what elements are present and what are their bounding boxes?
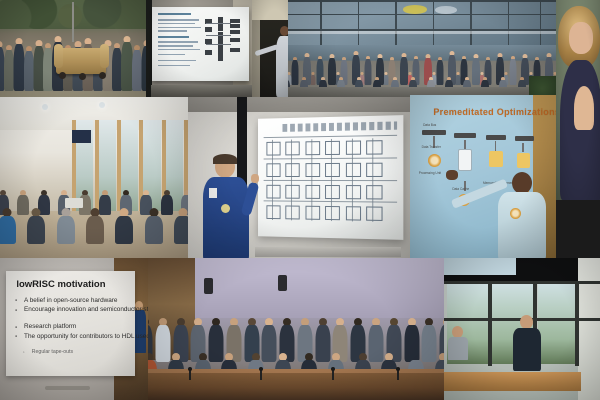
sofa	[56, 48, 106, 74]
face	[569, 22, 593, 54]
microphone	[189, 370, 191, 380]
microphone	[332, 370, 334, 380]
logo-patch	[221, 204, 230, 213]
seated-audience	[0, 143, 190, 260]
ceiling-beam	[188, 97, 410, 112]
projection-screen	[152, 7, 249, 81]
laptop	[65, 198, 83, 208]
slide-bullet: Research platform	[24, 323, 76, 330]
logo-disc	[403, 5, 427, 14]
slide-title-text	[282, 121, 396, 132]
photo-collage: Premeditated Optimizations Data Bus Data…	[0, 0, 600, 400]
right-wall	[578, 258, 600, 400]
presenter	[486, 164, 554, 260]
lecture-hall-group-photo	[148, 258, 444, 400]
logo-disc	[435, 6, 456, 14]
phone-icon	[458, 149, 472, 171]
diagram-block	[230, 30, 240, 34]
projection-screen	[258, 115, 403, 239]
group-photo-with-sofa	[0, 0, 146, 97]
hand	[446, 170, 458, 180]
screen-base	[255, 247, 402, 257]
diagram-block	[230, 38, 240, 42]
dark-board	[146, 0, 152, 97]
diagram-block	[205, 27, 212, 32]
slide-bullet: Encourage innovation and semiconductor s…	[24, 306, 150, 313]
desk	[444, 372, 581, 392]
balcony-rail	[288, 31, 556, 34]
torso	[560, 60, 600, 200]
hair	[213, 154, 237, 164]
slide-bullet: The opportunity for contributors to HDL …	[24, 333, 150, 340]
shrub	[529, 76, 556, 97]
sofa-wheel	[99, 72, 106, 79]
diagram-block	[230, 19, 240, 23]
sofa-arm-left	[54, 44, 63, 68]
projection-glow	[444, 258, 516, 275]
ceiling-light	[42, 104, 48, 110]
attendee-left	[447, 326, 469, 360]
diagram-block	[218, 45, 223, 61]
name-badge	[209, 188, 217, 198]
microphone	[397, 370, 399, 380]
wall-display	[72, 130, 91, 143]
window-mullion	[575, 281, 579, 366]
slide-bullet: A belief in open-source hardware	[24, 297, 117, 304]
sofa-wheel	[79, 73, 86, 80]
portrait-attendee	[556, 0, 600, 200]
hand	[251, 174, 259, 183]
lowrisc-motivation-slide: lowRISC motivation A belief in open-sour…	[0, 258, 150, 400]
attendee-by-window	[444, 258, 600, 400]
large-outdoor-conference-group	[288, 0, 556, 97]
sofa-arm-right	[100, 44, 109, 68]
desk-front	[151, 85, 253, 97]
sofa-wheel	[59, 72, 66, 79]
diagram-block	[218, 32, 223, 44]
seated-attendee	[510, 315, 544, 371]
diagram-block	[230, 48, 240, 52]
lecture-desk	[148, 369, 444, 400]
wall-strip	[252, 0, 260, 97]
microphone	[260, 370, 262, 380]
slide-title: Premeditated Optimizations	[433, 107, 556, 117]
slide-title: lowRISC motivation	[16, 279, 105, 290]
ceiling-light	[99, 102, 105, 108]
gear-icon	[428, 154, 441, 167]
diagram-block	[205, 50, 212, 55]
window-mullion	[488, 281, 492, 366]
premeditated-optimizations-talk: Premeditated Optimizations Data Bus Data…	[410, 95, 556, 260]
arm	[574, 86, 594, 130]
speaker	[197, 156, 265, 260]
screen-tray	[45, 386, 90, 390]
audience-in-bright-hall	[0, 97, 190, 260]
schematic-slide-talk	[188, 97, 410, 260]
diagram-block	[230, 24, 240, 28]
projection-screen: lowRISC motivation A belief in open-sour…	[6, 271, 135, 376]
slide-subbullet: Regular tape-outs	[32, 349, 73, 355]
